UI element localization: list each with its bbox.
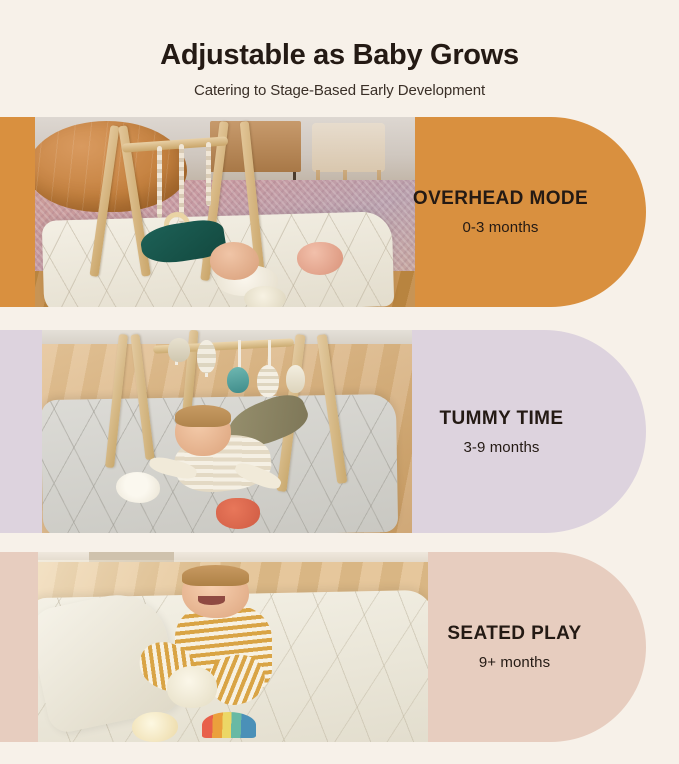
page-title: Adjustable as Baby Grows — [0, 40, 679, 70]
stage-caption-tummy-time: TUMMY TIME 3-9 months — [412, 330, 591, 533]
stage-photo-seated-play — [38, 552, 428, 742]
stage-name: SEATED PLAY — [447, 623, 581, 645]
stage-caption-overhead-mode: OVERHEAD MODE 0-3 months — [415, 117, 586, 307]
stage-age: 3-9 months — [463, 439, 539, 456]
stage-caption-seated-play: SEATED PLAY 9+ months — [428, 552, 601, 742]
header: Adjustable as Baby Grows Catering to Sta… — [0, 0, 679, 99]
stage-age: 0-3 months — [462, 219, 538, 236]
stage-photo-overhead-mode — [35, 117, 415, 307]
stage-row-overhead-mode: OVERHEAD MODE 0-3 months — [0, 117, 646, 307]
stage-photo-tummy-time — [42, 330, 412, 533]
stage-age: 9+ months — [479, 654, 550, 671]
stage-name: OVERHEAD MODE — [413, 188, 588, 210]
stage-row-tummy-time: TUMMY TIME 3-9 months — [0, 330, 646, 533]
page-subtitle: Catering to Stage-Based Early Developmen… — [0, 82, 679, 99]
stage-row-seated-play: SEATED PLAY 9+ months — [0, 552, 646, 742]
stage-name: TUMMY TIME — [440, 408, 564, 430]
